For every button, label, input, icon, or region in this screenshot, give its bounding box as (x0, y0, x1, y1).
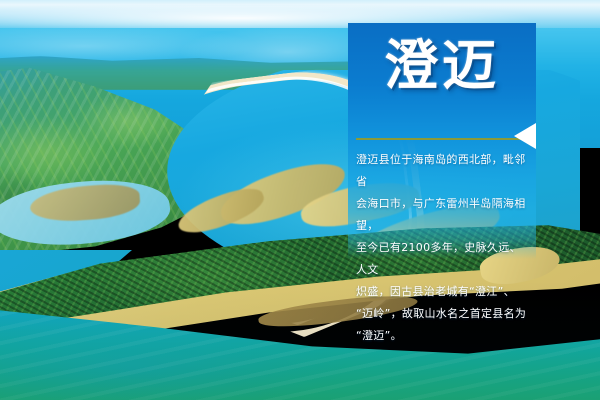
info-panel: 澄迈 澄迈县位于海南岛的西北部，毗邻省 会海口市，与广东雷州半岛隔海相望， 至今… (348, 23, 536, 259)
panel-divider (348, 131, 536, 151)
description-line: 澄迈县位于海南岛的西北部，毗邻省 (356, 149, 532, 193)
description-line: “迈岭”，故取山水名之首定县名为 (356, 303, 532, 325)
panel-title: 澄迈 (348, 23, 536, 107)
panel-description: 澄迈县位于海南岛的西北部，毗邻省 会海口市，与广东雷州半岛隔海相望， 至今已有2… (356, 149, 532, 347)
triangle-left-icon (514, 123, 536, 149)
description-line: 会海口市，与广东雷州半岛隔海相望， (356, 193, 532, 237)
description-line: 至今已有2100多年，史脉久远、人文 (356, 237, 532, 281)
divider-line (356, 138, 528, 140)
description-line: “澄迈”。 (356, 325, 532, 347)
screenshot-canvas: 澄迈 澄迈县位于海南岛的西北部，毗邻省 会海口市，与广东雷州半岛隔海相望， 至今… (0, 0, 600, 400)
description-line: 炽盛，因古县治老城有“澄江”、 (356, 281, 532, 303)
